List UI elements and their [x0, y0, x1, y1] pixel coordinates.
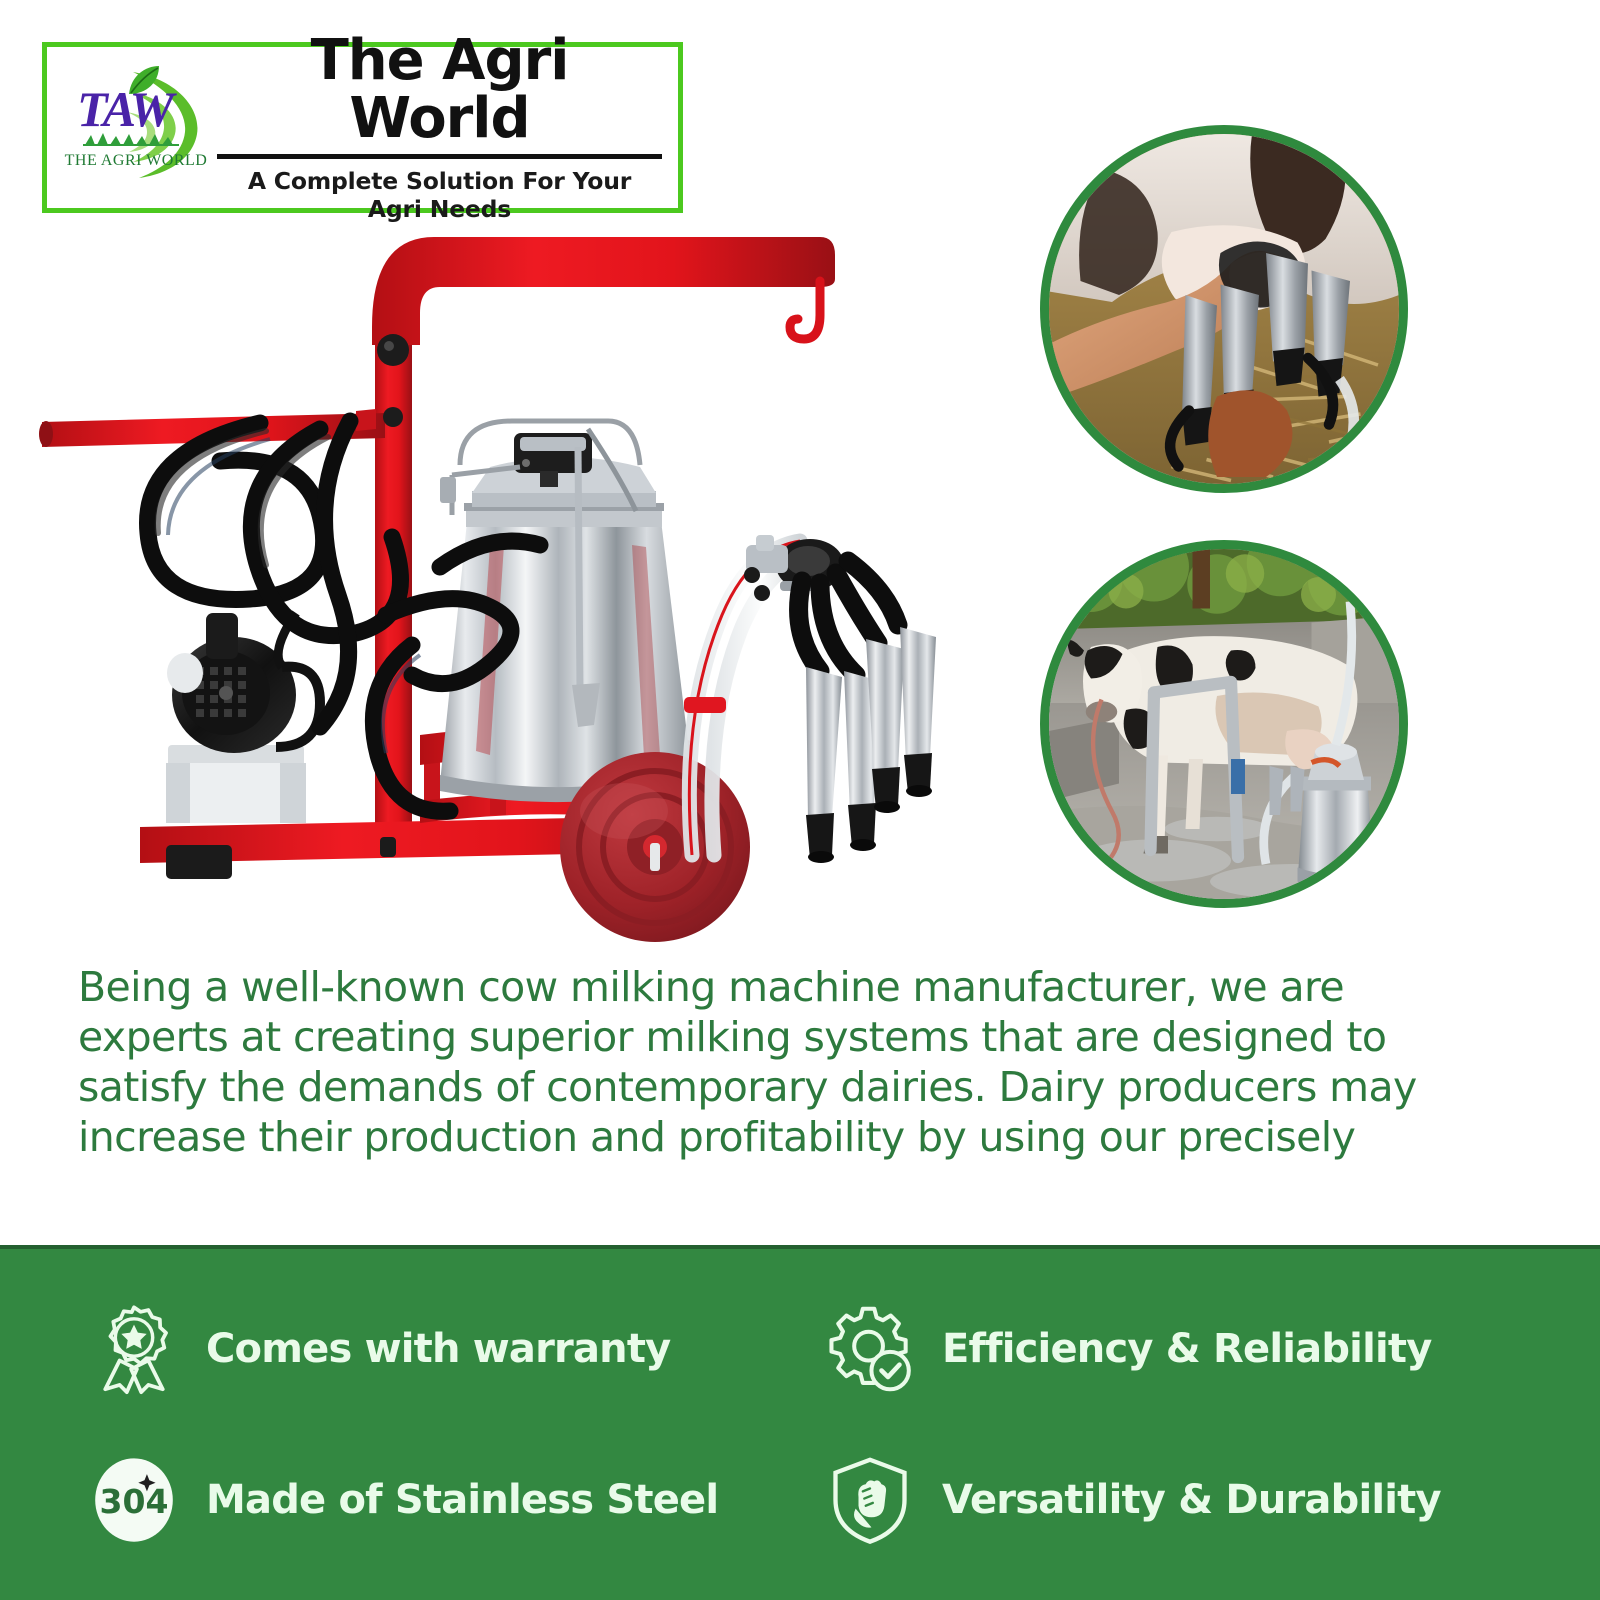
steel-304-icon: 304	[88, 1454, 180, 1546]
milking-machine-illustration	[20, 215, 980, 950]
logo-leaf-icon	[123, 64, 163, 98]
feature-made-of-stainless-steel: 304 Made of Stainless Steel	[88, 1425, 824, 1577]
steel-grade-number: 304	[100, 1482, 169, 1521]
udder-milking-scene	[1049, 134, 1399, 484]
logo-grass-icon	[83, 132, 179, 146]
brand-title: The Agri World	[217, 32, 662, 146]
shield-fist-icon	[824, 1454, 916, 1546]
feature-label: Made of Stainless Steel	[206, 1477, 718, 1523]
product-photo	[20, 215, 980, 950]
photo-milking-cluster-on-udder	[1040, 125, 1408, 493]
brand-divider	[217, 154, 662, 159]
features-band: Comes with warranty Efficiency & Reliabi…	[0, 1245, 1600, 1600]
logo-wordmark: THE AGRI WORLD	[61, 152, 211, 170]
photo-cow-in-milking-parlor	[1040, 540, 1408, 908]
brand-text-block: The Agri World A Complete Solution For Y…	[211, 32, 678, 222]
feature-label: Efficiency & Reliability	[942, 1326, 1432, 1372]
logo-mark: TAW THE AGRI WORLD	[61, 58, 211, 198]
feature-comes-with-warranty: Comes with warranty	[88, 1273, 824, 1425]
feature-label: Versatility & Durability	[942, 1477, 1441, 1523]
feature-efficiency-reliability: Efficiency & Reliability	[824, 1273, 1560, 1425]
gear-check-icon	[824, 1303, 916, 1395]
brand-header: TAW THE AGRI WORLD The Agri World A Comp…	[42, 42, 683, 213]
feature-versatility-durability: Versatility & Durability	[824, 1425, 1560, 1577]
description-paragraph: Being a well-known cow milking machine m…	[78, 962, 1498, 1162]
parlor-scene	[1049, 549, 1399, 899]
award-ribbon-icon	[88, 1303, 180, 1395]
feature-label: Comes with warranty	[206, 1326, 670, 1372]
